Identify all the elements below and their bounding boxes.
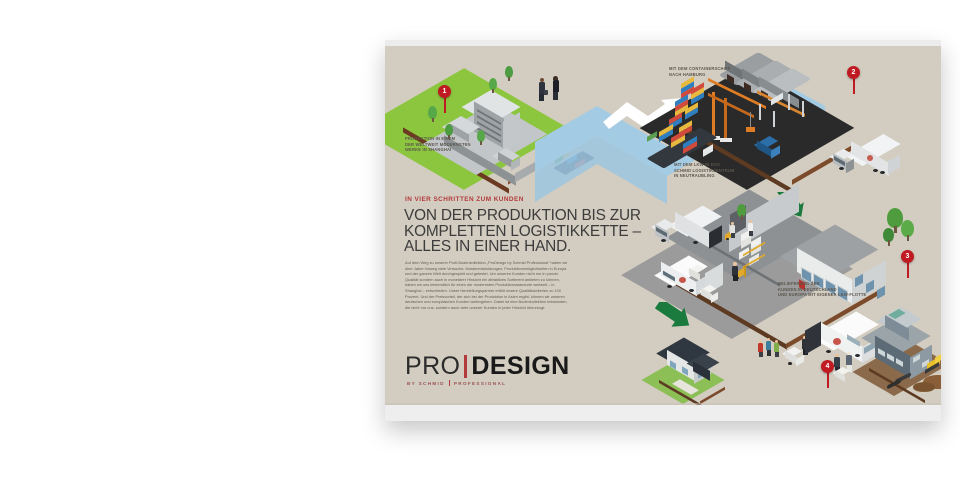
- step-pin-4-number: 4: [821, 360, 834, 373]
- ship-bridge: [703, 144, 713, 157]
- kicker-text: IN VIER SCHRITTEN ZUM KUNDEN: [405, 196, 635, 203]
- step-pin-2-number: 2: [847, 66, 860, 79]
- caption-line: UND EUROPA MIT EIGENER LKW-FLOTTE: [778, 292, 918, 298]
- person-customer: [757, 340, 765, 357]
- caption-line: WERKE IN SHANGHAI: [405, 147, 515, 153]
- page-bottom-edge: [385, 405, 941, 421]
- step-pin-3-number: 3: [901, 250, 914, 263]
- brochure-page: 1 PRODUKTION IN EINEM DER WELTWEIT MODER…: [385, 40, 941, 421]
- caption-step-1: PRODUKTION IN EINEM DER WELTWEIT MODERNS…: [405, 136, 515, 153]
- caption-line: NACH HAMBURG: [669, 72, 789, 78]
- logo-mark: [833, 338, 841, 345]
- logo-wordmark: PRO DESIGN: [405, 353, 605, 379]
- wheel: [693, 241, 698, 244]
- person-worker: [747, 220, 755, 236]
- residential-house: [657, 324, 753, 394]
- page-title: VON DER PRODUKTION BIS ZUR KOMPLETTEN LO…: [404, 208, 684, 255]
- logo-mark: [867, 155, 873, 161]
- commercial-building: [869, 306, 941, 396]
- rail-gantry: [757, 88, 827, 132]
- caption-line: IN NEUTRAUBLING: [674, 173, 794, 179]
- screenshot-canvas: 1 PRODUKTION IN EINEM DER WELTWEIT MODER…: [0, 0, 960, 500]
- caption-step-2: MIT DEM CONTAINERSCHIFF NACH HAMBURG: [669, 66, 789, 77]
- wheel: [826, 350, 831, 353]
- step-pin-2[interactable]: 2: [847, 66, 861, 95]
- wheel: [855, 354, 860, 357]
- logo-subline: BY SCHMID PROFESSIONAL: [407, 380, 605, 386]
- headline-line-3: ALLES IN EINER HAND.: [404, 239, 684, 255]
- ground-container: [757, 138, 783, 158]
- truck-open-rear: [709, 225, 722, 249]
- person-customer: [765, 338, 773, 356]
- logo-word-design: DESIGN: [471, 353, 569, 379]
- pin-stem-icon: [827, 372, 828, 388]
- pallet-stack: [701, 286, 721, 302]
- logo-sub-right: PROFESSIONAL: [454, 381, 506, 386]
- van-open-rear: [805, 321, 821, 354]
- headline-line-1: VON DER PRODUKTION BIS ZUR: [404, 208, 684, 224]
- step-pin-3[interactable]: 3: [901, 250, 915, 279]
- logo-mark: [679, 277, 686, 283]
- wheel: [689, 289, 694, 292]
- prodesign-logo: PRO DESIGN BY SCHMID PROFESSIONAL: [405, 353, 605, 386]
- crate-box: [835, 368, 855, 382]
- pin-stem-icon: [853, 78, 854, 94]
- headline-line-2: KOMPLETTEN LOGISTIKKETTE –: [404, 224, 684, 240]
- body-copy: Auf dem Weg zu unserer Profi-Bodenkollek…: [405, 260, 570, 310]
- logo-sub-divider: [449, 380, 450, 386]
- wheel: [667, 285, 672, 288]
- logo-sub-left: BY SCHMID: [407, 381, 445, 386]
- pin-stem-icon: [444, 97, 445, 113]
- pin-stem-icon: [907, 262, 908, 278]
- step-pin-4[interactable]: 4: [821, 360, 835, 389]
- pallet-stack: [689, 266, 709, 282]
- excavator-icon: [925, 354, 941, 374]
- caption-step-3: MIT DEM LKW IN DAS SCHMID LOGISTIKZENTRU…: [674, 162, 794, 179]
- step-pin-1-number: 1: [438, 85, 451, 98]
- logo-divider-bar: [464, 355, 467, 378]
- caption-step-4: BELIEFERUNG DER KUNDEN IN DEUTSCHLAND UN…: [778, 281, 918, 298]
- soil-mound: [913, 382, 935, 392]
- step-pin-1[interactable]: 1: [438, 85, 452, 114]
- logo-word-pro: PRO: [405, 353, 460, 379]
- scene-customer-delivery: 4: [653, 302, 941, 412]
- person-customer: [773, 340, 781, 357]
